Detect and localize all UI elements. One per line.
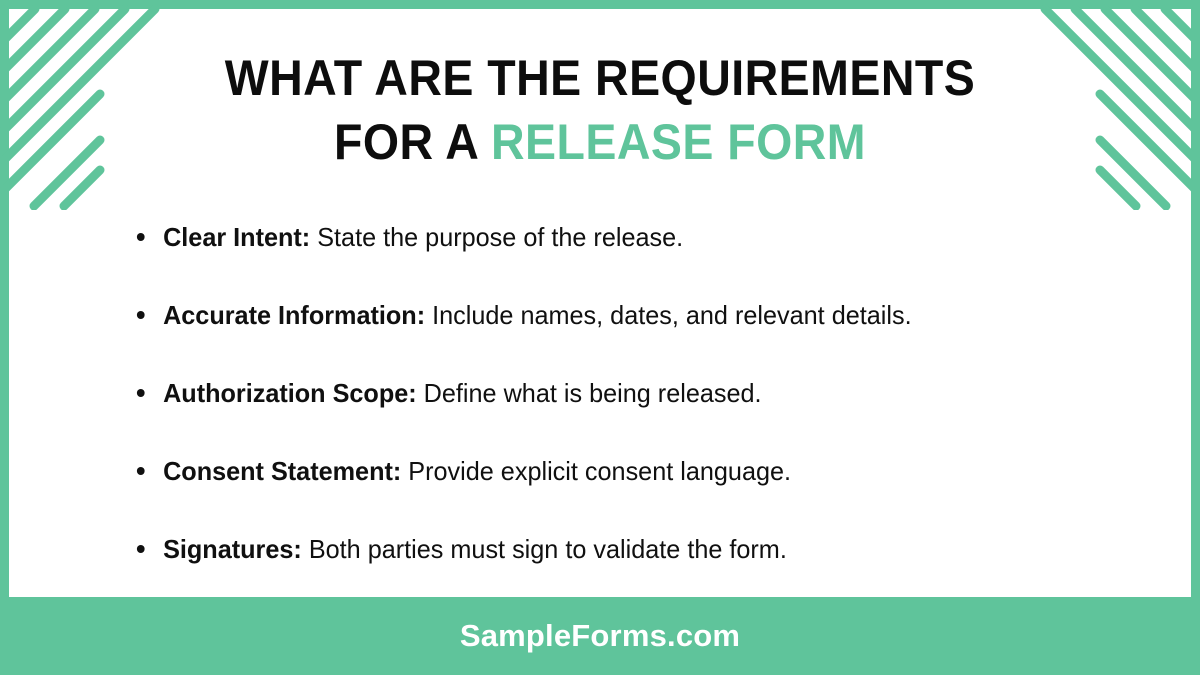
bullet-icon	[137, 545, 145, 553]
requirements-list: Clear Intent: State the purpose of the r…	[133, 208, 1073, 578]
infographic-card: WHAT ARE THE REQUIREMENTS FOR A RELEASE …	[0, 0, 1200, 675]
list-item-label: Accurate Information:	[163, 300, 425, 330]
list-item-label: Consent Statement:	[163, 456, 401, 486]
list-item-text: Both parties must sign to validate the f…	[302, 534, 787, 564]
list-item: Clear Intent: State the purpose of the r…	[133, 208, 1045, 266]
page-title-line-2-plain: FOR A	[334, 114, 491, 170]
list-item-label: Authorization Scope:	[163, 378, 417, 408]
bullet-icon	[137, 467, 145, 475]
list-item: Consent Statement: Provide explicit cons…	[133, 442, 1045, 500]
list-item: Authorization Scope: Define what is bein…	[133, 364, 1045, 422]
list-item-text: Provide explicit consent language.	[401, 456, 791, 486]
page-title: WHAT ARE THE REQUIREMENTS FOR A RELEASE …	[0, 46, 1200, 174]
list-item: Signatures: Both parties must sign to va…	[133, 520, 1045, 578]
top-border	[0, 0, 1200, 9]
bullet-icon	[137, 233, 145, 241]
bullet-icon	[137, 311, 145, 319]
list-item-label: Signatures:	[163, 534, 302, 564]
list-item-label: Clear Intent:	[163, 222, 310, 252]
list-item-text: Include names, dates, and relevant detai…	[425, 300, 911, 330]
footer-brand-name: SampleForms.com	[460, 618, 740, 654]
footer-bar: SampleForms.com	[0, 597, 1200, 675]
page-title-accent: RELEASE FORM	[491, 114, 866, 170]
bullet-icon	[137, 389, 145, 397]
page-title-line-2: FOR A RELEASE FORM	[42, 110, 1158, 174]
list-item-text: Define what is being released.	[417, 378, 762, 408]
list-item: Accurate Information: Include names, dat…	[133, 286, 1045, 344]
page-title-line-1: WHAT ARE THE REQUIREMENTS	[42, 46, 1158, 110]
list-item-text: State the purpose of the release.	[310, 222, 683, 252]
